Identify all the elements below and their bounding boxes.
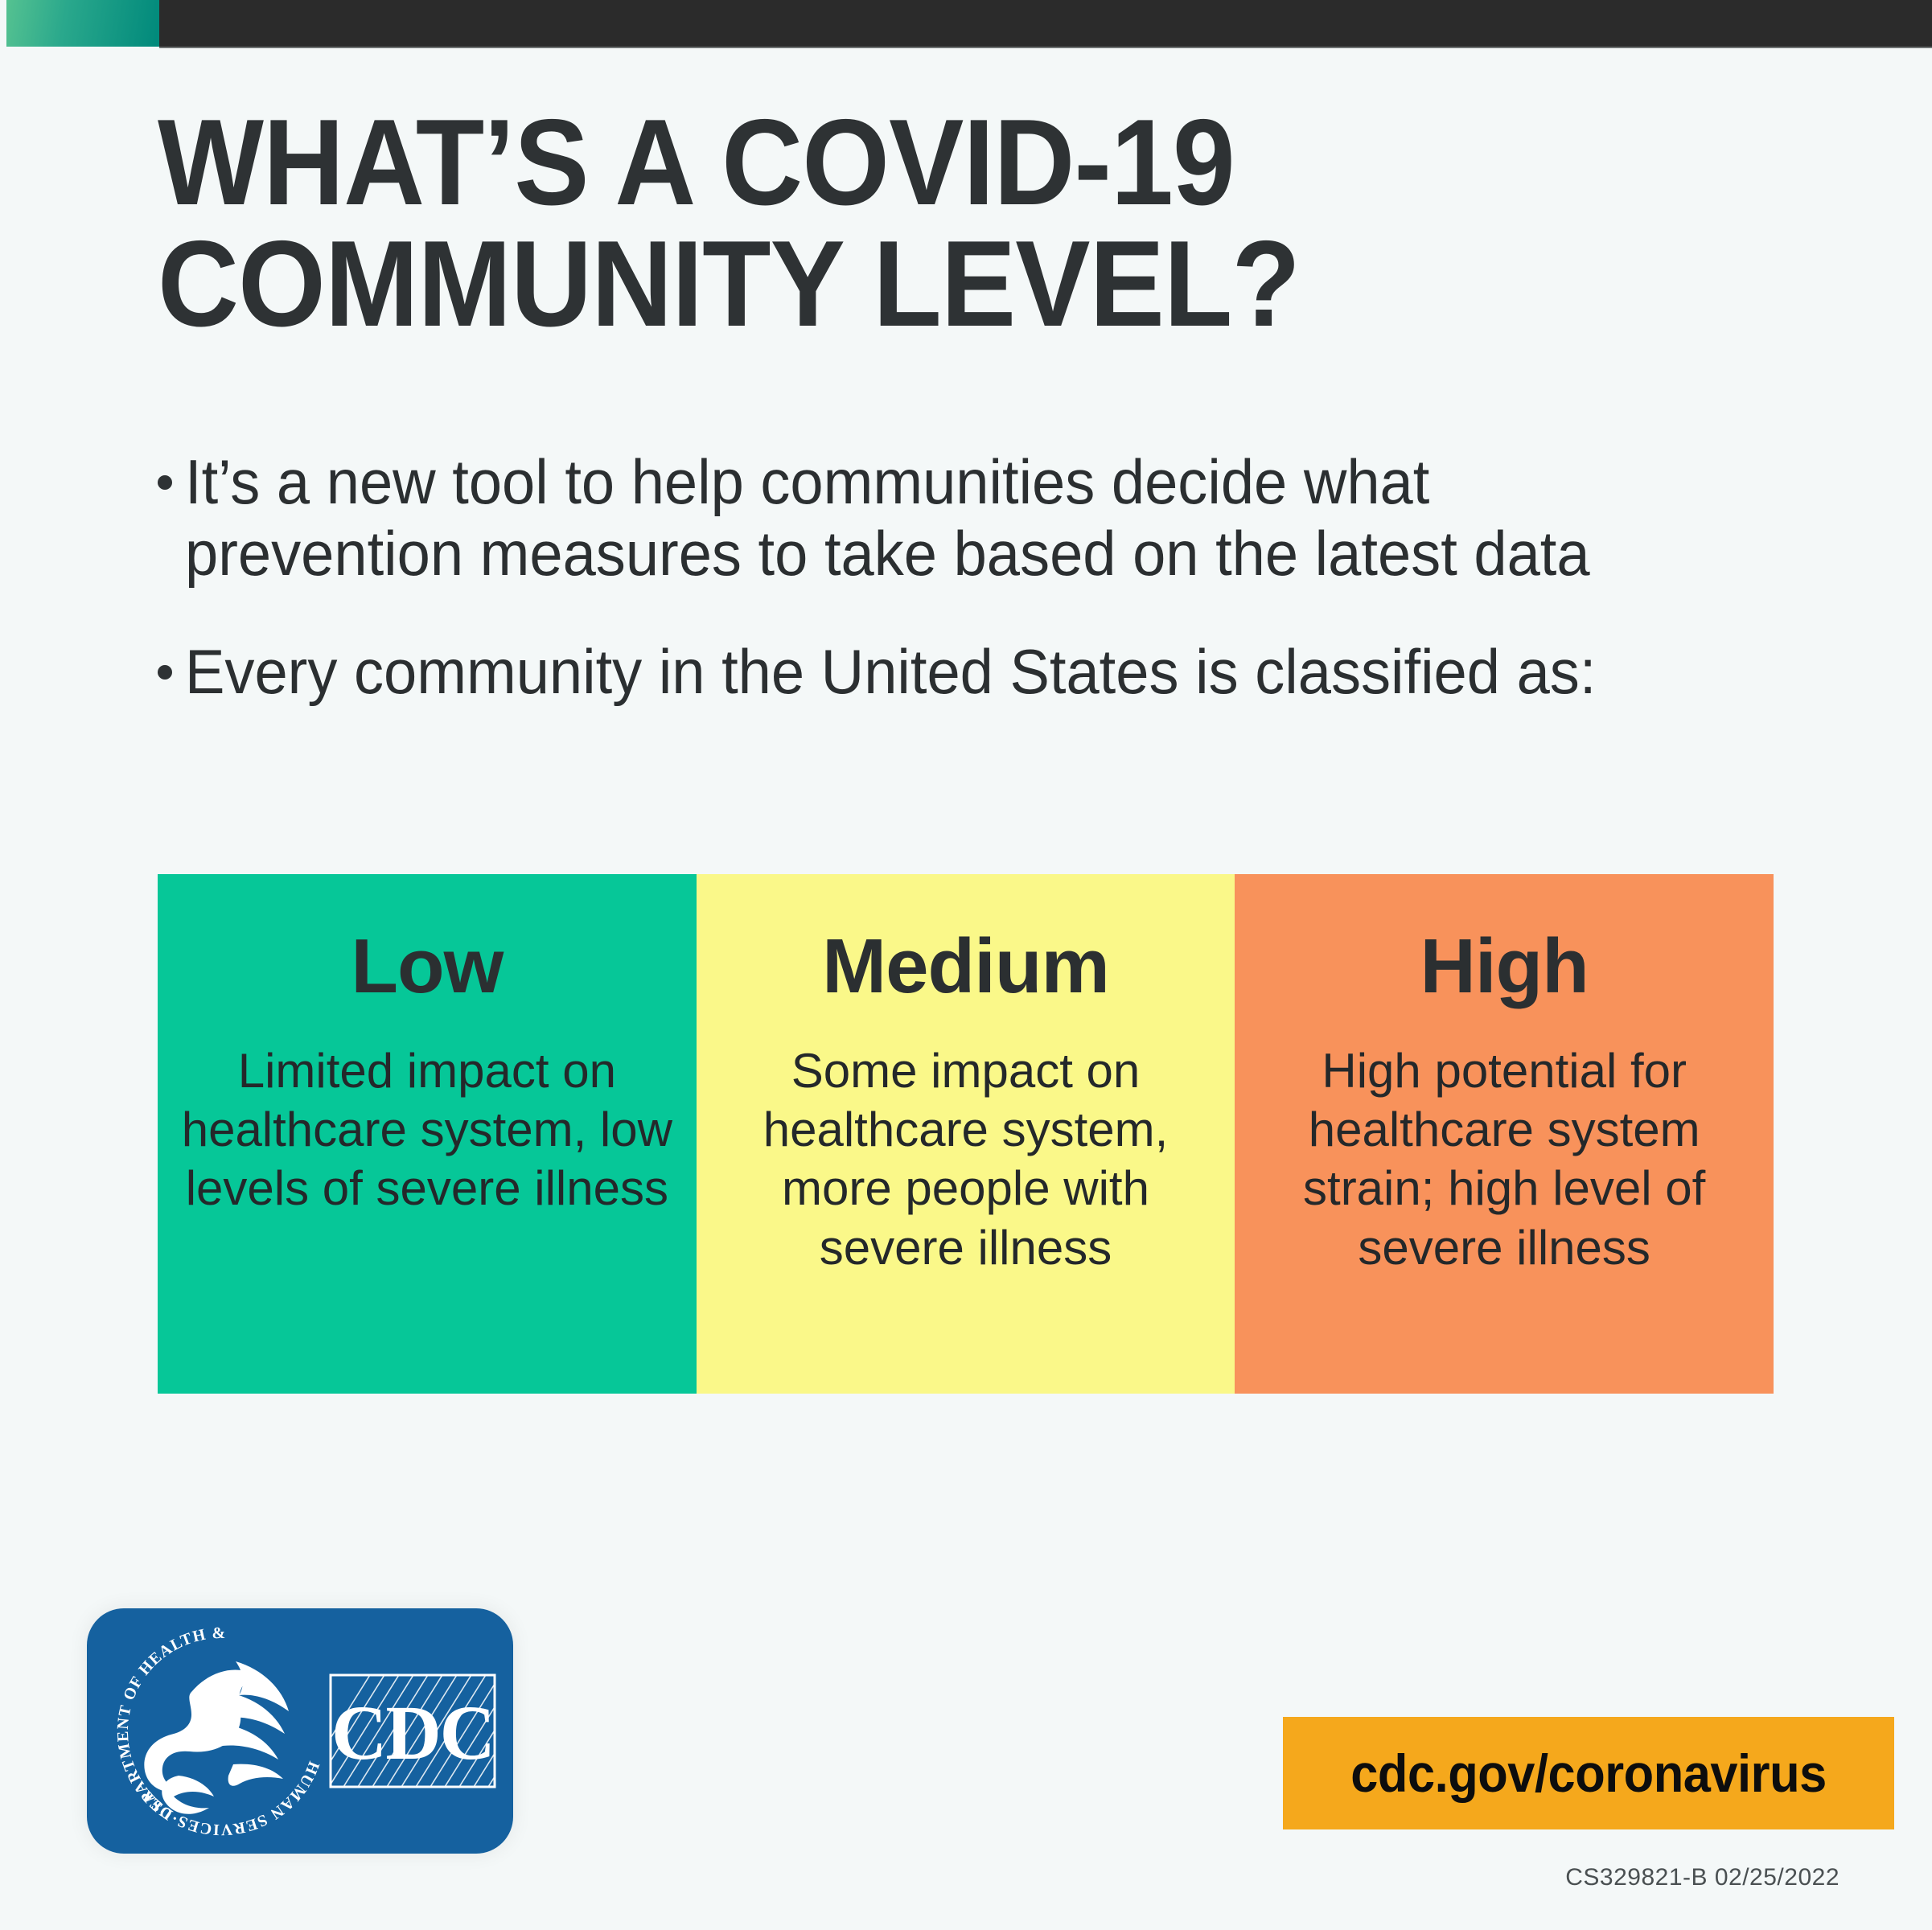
top-bar-dark-strip <box>159 0 1932 47</box>
level-description-low: Limited impact on healthcare system, low… <box>179 1041 676 1218</box>
cdc-hhs-logo: HUMAN SERVICES·USA DEPARTMENT OF HEALTH … <box>87 1608 513 1854</box>
top-bar-green-accent <box>6 0 159 47</box>
cdc-wordmark-icon: CDC <box>328 1673 497 1789</box>
bullet-dot-icon <box>158 475 172 490</box>
level-description-high: High potential for healthcare system str… <box>1256 1041 1753 1277</box>
level-description-medium: Some impact on healthcare system, more p… <box>717 1041 1215 1277</box>
page-title-line-1: WHAT’S A COVID-19 <box>158 113 1371 213</box>
bullet-dot-icon <box>158 665 172 680</box>
level-title-high: High <box>1235 922 1774 1011</box>
level-title-medium: Medium <box>697 922 1235 1011</box>
bullet-text: Every community in the United States is … <box>185 636 1596 708</box>
bullet-text: It’s a new tool to help communities deci… <box>185 446 1683 589</box>
level-title-low: Low <box>158 922 697 1011</box>
list-item: It’s a new tool to help communities deci… <box>158 446 1774 589</box>
level-box-high: High High potential for healthcare syste… <box>1235 874 1774 1394</box>
url-banner-label: cdc.gov/coronavirus <box>1350 1743 1827 1804</box>
bullet-list: It’s a new tool to help communities deci… <box>158 446 1774 708</box>
level-box-low: Low Limited impact on healthcare system,… <box>158 874 697 1394</box>
level-box-medium: Medium Some impact on healthcare system,… <box>697 874 1235 1394</box>
infographic-canvas: WHAT’S A COVID-19 COMMUNITY LEVEL? It’s … <box>0 0 1932 1930</box>
publication-code: CS329821-B 02/25/2022 <box>1565 1864 1840 1891</box>
url-banner[interactable]: cdc.gov/coronavirus <box>1283 1717 1894 1829</box>
svg-text:CDC: CDC <box>331 1690 494 1776</box>
list-item: Every community in the United States is … <box>158 636 1774 708</box>
top-decorative-bar <box>0 0 1932 47</box>
community-level-boxes: Low Limited impact on healthcare system,… <box>158 874 1774 1394</box>
page-title: WHAT’S A COVID-19 COMMUNITY LEVEL? <box>158 113 1371 334</box>
page-title-line-2: COMMUNITY LEVEL? <box>158 234 1371 335</box>
hhs-seal-icon: HUMAN SERVICES·USA DEPARTMENT OF HEALTH … <box>105 1615 338 1848</box>
